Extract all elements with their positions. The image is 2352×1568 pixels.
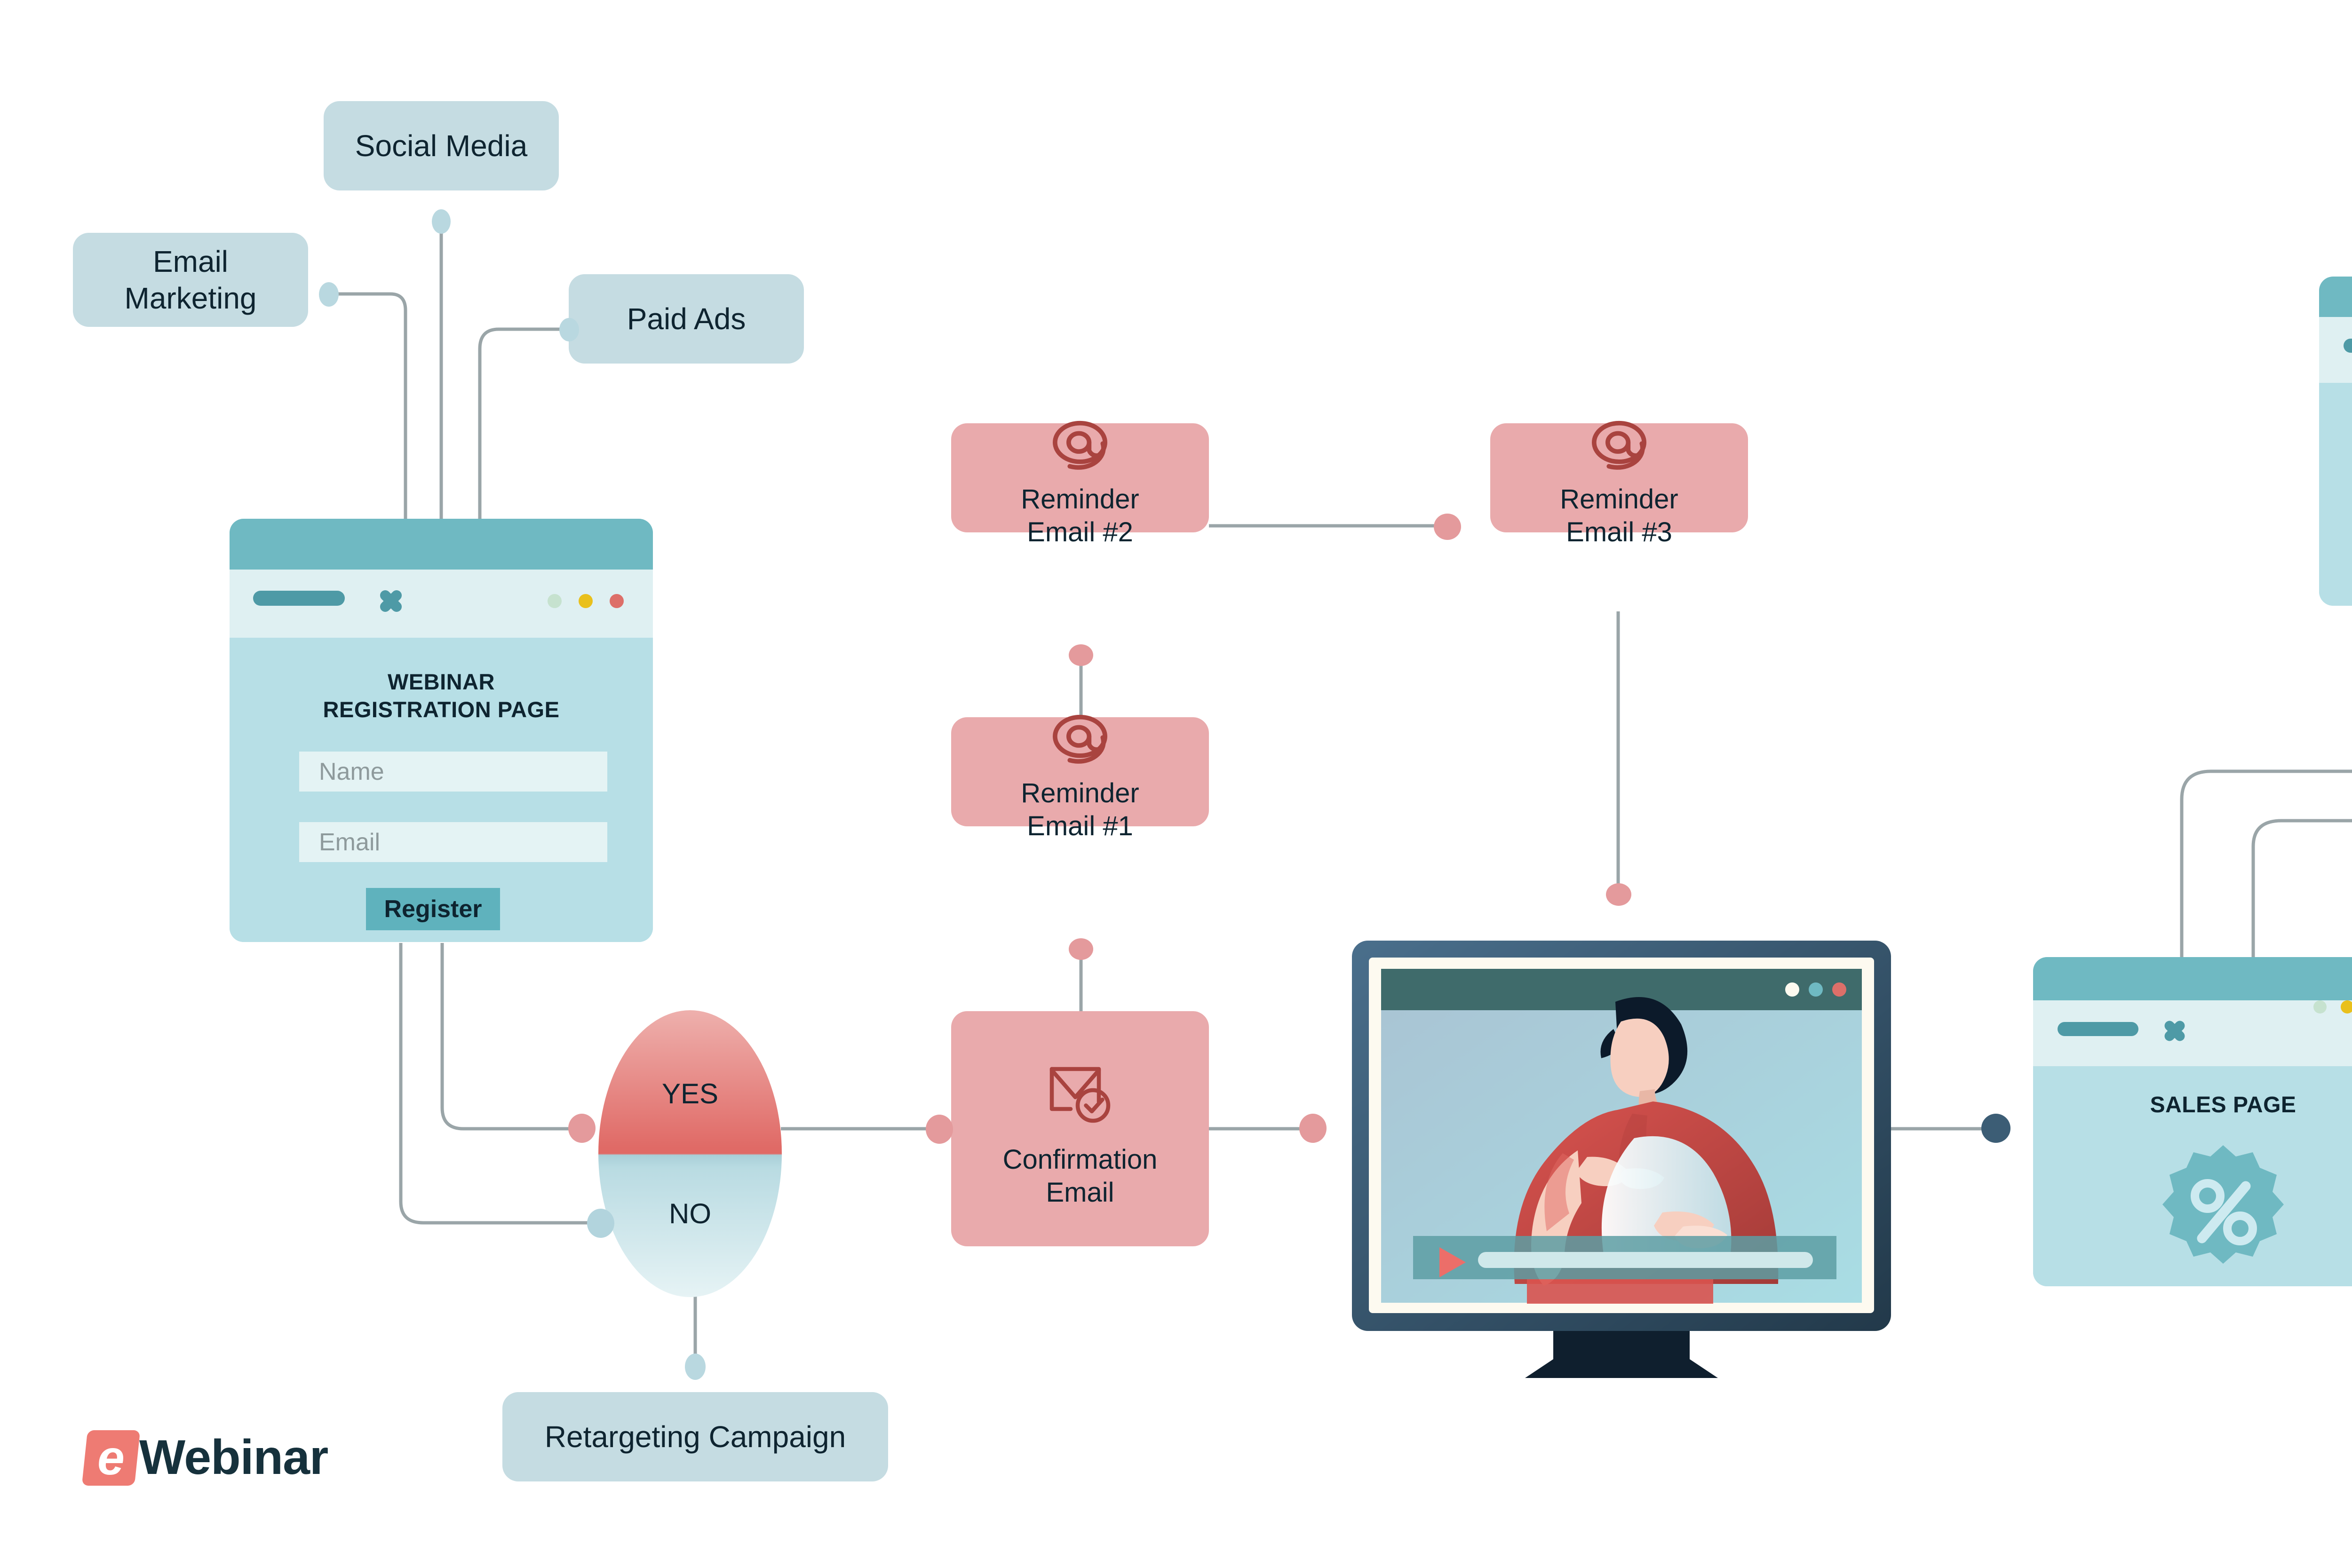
connector-dot-reminder-2: [1069, 644, 1093, 666]
decision-registered-no: NO: [598, 1197, 782, 1230]
at-sign-icon: [1047, 713, 1113, 775]
name-field[interactable]: Name: [299, 752, 607, 792]
traffic-light-red: [1832, 982, 1846, 997]
connector-dot-monitor-out: [1981, 1114, 2010, 1143]
logo-wordmark: Webinar: [139, 1430, 328, 1486]
reminder-email-2-label: Reminder Email #2: [1021, 483, 1139, 550]
traffic-light-white: [1785, 982, 1799, 997]
window-url-bar[interactable]: [253, 591, 345, 606]
connector-dot-reminder-3-in: [1434, 514, 1461, 540]
retargeting-campaign-box[interactable]: Retargeting Campaign: [502, 1392, 888, 1481]
reminder-email-1-label: Reminder Email #1: [1021, 777, 1139, 844]
reminder-email-3-label: Reminder Email #3: [1560, 483, 1678, 550]
webinar-registration-window[interactable]: WEBINAR REGISTRATION PAGE Name Email Reg…: [230, 519, 653, 942]
flowchart-canvas: Social Media Email Marketing Paid Ads WE…: [0, 0, 2352, 1568]
discount-percent-badge-icon: [2153, 1140, 2294, 1283]
reminder-email-1-box[interactable]: Reminder Email #1: [951, 717, 1209, 826]
retargeting-campaign-label: Retargeting Campaign: [545, 1418, 846, 1455]
close-x-icon[interactable]: [376, 586, 405, 616]
connector-dot-reminder-1: [1069, 938, 1093, 960]
window-url-bar[interactable]: [2058, 1022, 2138, 1036]
envelope-check-icon: [1045, 1062, 1115, 1131]
traffic-light-yellow[interactable]: [579, 594, 593, 608]
email-field-placeholder: Email: [319, 828, 380, 856]
checkout-page-title: CHECKOUT OR SIGNUP PAGE: [2319, 408, 2352, 465]
connector-dot-confirmation-out: [1299, 1114, 1327, 1143]
logo-e-letter: e: [97, 1433, 125, 1482]
register-button-label: Register: [384, 895, 482, 923]
source-label-email-marketing: Email Marketing: [125, 243, 257, 317]
traffic-light-teal: [1809, 982, 1823, 997]
sales-page-title: SALES PAGE: [2033, 1091, 2352, 1119]
confirmation-email-box[interactable]: Confirmation Email: [951, 1011, 1209, 1246]
source-label-paid-ads: Paid Ads: [627, 301, 746, 337]
connector-dot-social-media: [432, 209, 451, 234]
register-button[interactable]: Register: [366, 888, 500, 930]
source-box-social-media[interactable]: Social Media: [324, 101, 559, 190]
connector-dot-paid-ads: [559, 318, 579, 341]
traffic-light-yellow[interactable]: [2341, 1000, 2352, 1014]
source-box-paid-ads[interactable]: Paid Ads: [569, 274, 804, 364]
webinar-video-player[interactable]: [1352, 936, 1891, 1383]
at-sign-icon: [1586, 419, 1653, 481]
registration-page-title: WEBINAR REGISTRATION PAGE: [230, 668, 653, 724]
close-x-icon[interactable]: [2161, 1017, 2188, 1045]
sales-page-window[interactable]: SALES PAGE: [2033, 957, 2352, 1286]
source-label-social-media: Social Media: [355, 127, 527, 164]
logo-e-tile: e: [82, 1430, 140, 1486]
traffic-light-red[interactable]: [610, 594, 624, 608]
connector-dot-registered-no: [587, 1209, 614, 1238]
ewebinar-logo: e Webinar: [85, 1430, 328, 1486]
connector-dot-reminder-3-out: [1606, 883, 1631, 906]
at-sign-icon: [1047, 419, 1113, 481]
connector-dot-retargeting: [685, 1354, 706, 1380]
confirmation-email-label: Confirmation Email: [1003, 1143, 1158, 1210]
name-field-placeholder: Name: [319, 758, 384, 786]
traffic-light-green[interactable]: [548, 594, 562, 608]
email-field[interactable]: Email: [299, 822, 607, 862]
reminder-email-2-box[interactable]: Reminder Email #2: [951, 423, 1209, 532]
connector-dot-registered-yes: [568, 1114, 596, 1143]
decision-registered-yes: YES: [598, 1077, 782, 1110]
reminder-email-3-box[interactable]: Reminder Email #3: [1490, 423, 1748, 532]
checkout-signup-window[interactable]: CHECKOUT OR SIGNUP PAGE: [2319, 277, 2352, 606]
decision-registered[interactable]: YES NO: [598, 1010, 782, 1297]
connector-dot-email-marketing: [319, 282, 339, 307]
traffic-light-green[interactable]: [2313, 1000, 2327, 1014]
source-box-email-marketing[interactable]: Email Marketing: [73, 233, 308, 327]
connector-dot-confirmation-in: [926, 1115, 953, 1144]
